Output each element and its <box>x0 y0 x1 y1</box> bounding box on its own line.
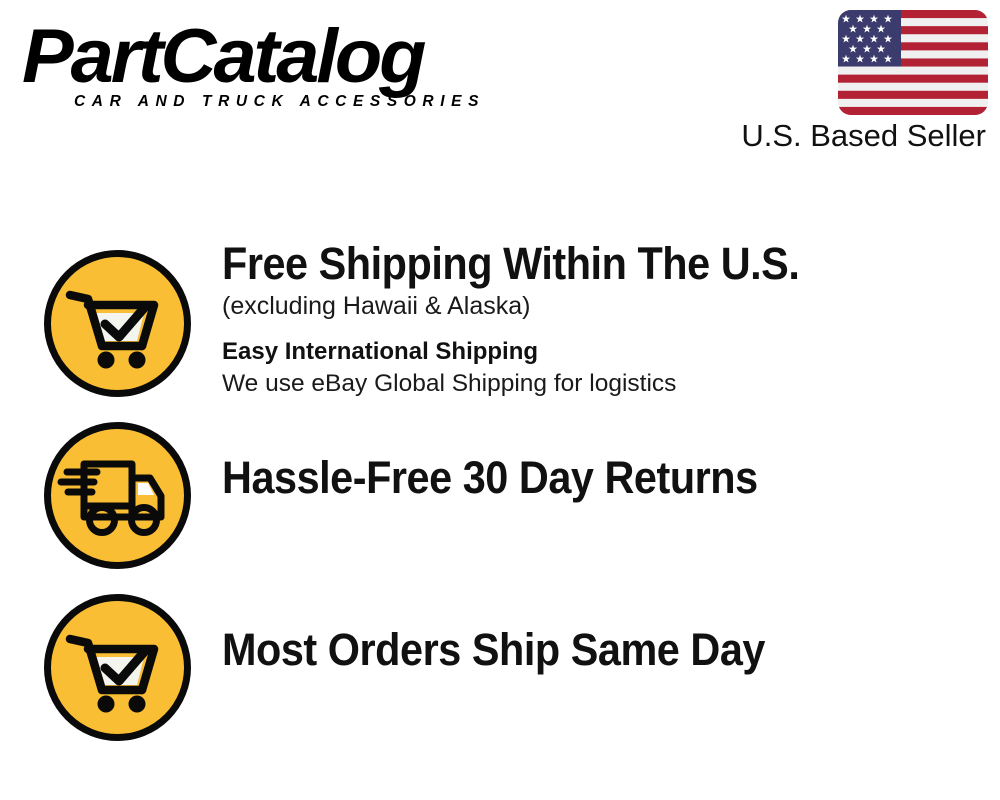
feature-heading: Hassle-Free 30 Day Returns <box>222 454 921 501</box>
feature-row: Most Orders Ship Same Day <box>0 584 1000 756</box>
feature-text-block: Hassle-Free 30 Day Returns <box>222 454 982 501</box>
shopping-cart-check-icon <box>42 248 193 399</box>
us-flag-icon <box>838 10 988 115</box>
us-based-seller-label: U.S. Based Seller <box>741 118 986 154</box>
page-header: PartCatalog CAR AND TRUCK ACCESSORIES <box>0 0 1000 170</box>
feature-list: Free Shipping Within The U.S. (excluding… <box>0 240 1000 756</box>
feature-heading: Free Shipping Within The U.S. <box>222 240 921 287</box>
delivery-truck-icon <box>42 420 193 571</box>
feature-row: Hassle-Free 30 Day Returns <box>0 412 1000 584</box>
brand-logo: PartCatalog CAR AND TRUCK ACCESSORIES <box>22 22 492 111</box>
feature-heading: Most Orders Ship Same Day <box>222 626 921 673</box>
feature-subtitle: (excluding Hawaii & Alaska) <box>222 291 982 322</box>
feature-text-block: Most Orders Ship Same Day <box>222 626 982 673</box>
feature-row: Free Shipping Within The U.S. (excluding… <box>0 240 1000 412</box>
feature-secondary-note: We use eBay Global Shipping for logistic… <box>222 369 982 400</box>
shopping-cart-check-icon <box>42 592 193 743</box>
brand-wordmark: PartCatalog <box>22 22 501 92</box>
feature-secondary-heading: Easy International Shipping <box>222 337 982 367</box>
feature-text-block: Free Shipping Within The U.S. (excluding… <box>222 240 982 399</box>
